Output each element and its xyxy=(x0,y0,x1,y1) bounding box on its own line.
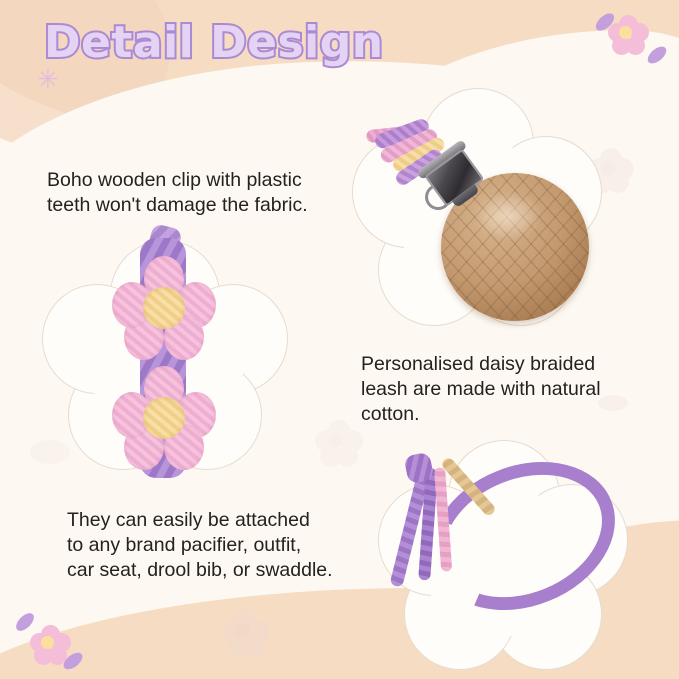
product-photo-clip-and-bead xyxy=(383,105,613,330)
crochet-daisy-flower xyxy=(110,366,218,470)
flower-center xyxy=(619,26,632,39)
daisy-center xyxy=(143,397,185,439)
feature-text-attachment: They can easily be attached to any brand… xyxy=(67,508,377,583)
daisy-center xyxy=(143,287,185,329)
flower-center xyxy=(328,433,343,448)
decorative-flower-icon-top-right xyxy=(608,15,650,57)
page-title: Detail Design xyxy=(44,17,384,68)
sparkle-icon: ✳ xyxy=(37,66,59,92)
feature-text-wooden-clip: Boho wooden clip with plastic teeth won'… xyxy=(47,168,357,218)
flower-center xyxy=(235,623,250,638)
product-photo-cotton-cords xyxy=(400,452,620,622)
watermark-flower-icon xyxy=(222,610,272,660)
watermark-flower-icon xyxy=(315,420,365,470)
flower-center xyxy=(41,636,54,649)
crochet-daisy-flower xyxy=(110,256,218,360)
bead-highlight xyxy=(474,191,542,241)
product-photo-daisy-braid xyxy=(100,238,230,478)
feature-text-daisy-leash: Personalised daisy braided leash are mad… xyxy=(361,352,651,427)
infographic-canvas: Detail Design ✳ xyxy=(0,0,679,679)
